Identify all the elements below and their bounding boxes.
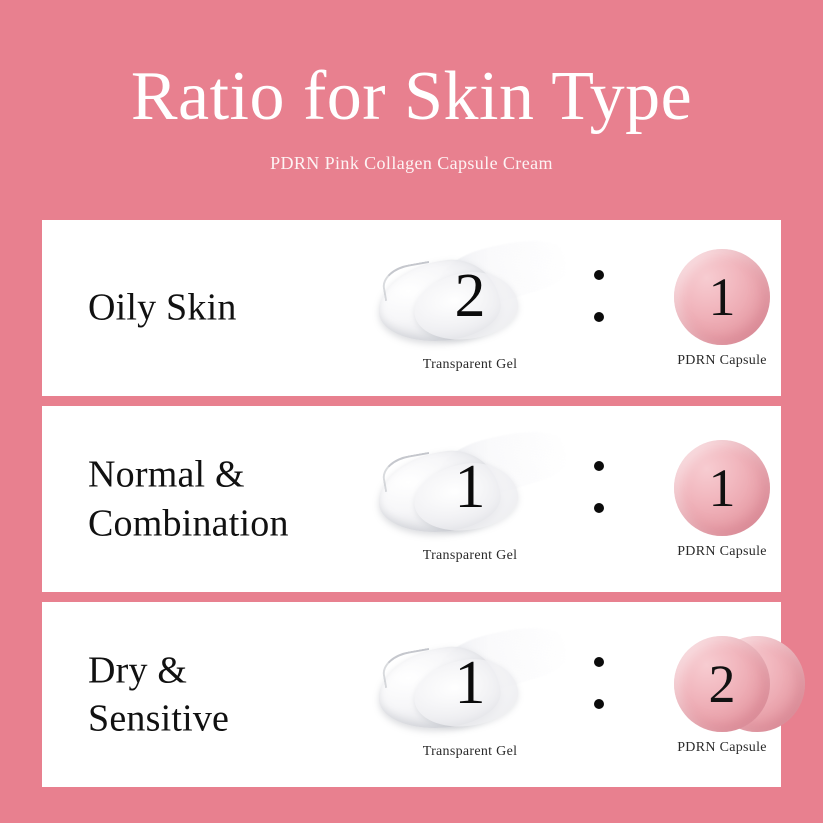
pdrn-capsule-icon: 2 — [647, 634, 797, 734]
ratio-colon-icon — [587, 461, 611, 513]
pdrn-capsule-group: 2 PDRN Capsule — [627, 634, 817, 756]
ratio-row-dry-sensitive: Dry & Sensitive 1 Transparent Gel — [42, 602, 781, 787]
transparent-gel-icon: 1 — [370, 434, 570, 540]
colon-dot-top — [594, 270, 604, 280]
transparent-gel-group: 1 Transparent Gel — [360, 434, 580, 564]
capsule-amount-value: 1 — [674, 249, 770, 345]
ratio-card-list: Oily Skin 2 Transparent Gel 1 — [42, 220, 781, 787]
colon-dot-bottom — [594, 312, 604, 322]
capsule-amount-value: 1 — [674, 440, 770, 536]
gel-amount-value: 2 — [370, 243, 570, 349]
colon-dot-bottom — [594, 503, 604, 513]
transparent-gel-icon: 1 — [370, 630, 570, 736]
skin-type-label: Oily Skin — [88, 284, 237, 333]
ratio-infographic: Ratio for Skin Type PDRN Pink Collagen C… — [0, 0, 823, 823]
gel-caption: Transparent Gel — [360, 744, 580, 760]
gel-amount-value: 1 — [370, 630, 570, 736]
colon-dot-top — [594, 461, 604, 471]
capsule-amount-value: 2 — [674, 636, 770, 732]
colon-dot-bottom — [594, 699, 604, 709]
pdrn-capsule-icon: 1 — [647, 247, 797, 347]
pdrn-capsule-group: 1 PDRN Capsule — [627, 247, 817, 369]
ratio-row-oily-skin: Oily Skin 2 Transparent Gel 1 — [42, 220, 781, 396]
ratio-colon-icon — [587, 270, 611, 322]
capsule-caption: PDRN Capsule — [627, 353, 817, 369]
pdrn-capsule-group: 1 PDRN Capsule — [627, 438, 817, 560]
capsule-caption: PDRN Capsule — [627, 740, 817, 756]
header: Ratio for Skin Type PDRN Pink Collagen C… — [0, 0, 823, 174]
capsule-caption: PDRN Capsule — [627, 544, 817, 560]
skin-type-label: Normal & Combination — [88, 450, 289, 547]
pdrn-capsule-icon: 1 — [647, 438, 797, 538]
ratio-row-normal-combination: Normal & Combination 1 Transparent Gel — [42, 406, 781, 592]
gel-amount-value: 1 — [370, 434, 570, 540]
skin-type-label: Dry & Sensitive — [88, 646, 229, 743]
transparent-gel-group: 2 Transparent Gel — [360, 243, 580, 373]
page-title: Ratio for Skin Type — [0, 0, 823, 132]
page-subtitle: PDRN Pink Collagen Capsule Cream — [0, 132, 823, 174]
transparent-gel-icon: 2 — [370, 243, 570, 349]
transparent-gel-group: 1 Transparent Gel — [360, 630, 580, 760]
colon-dot-top — [594, 657, 604, 667]
gel-caption: Transparent Gel — [360, 357, 580, 373]
gel-caption: Transparent Gel — [360, 548, 580, 564]
ratio-colon-icon — [587, 657, 611, 709]
